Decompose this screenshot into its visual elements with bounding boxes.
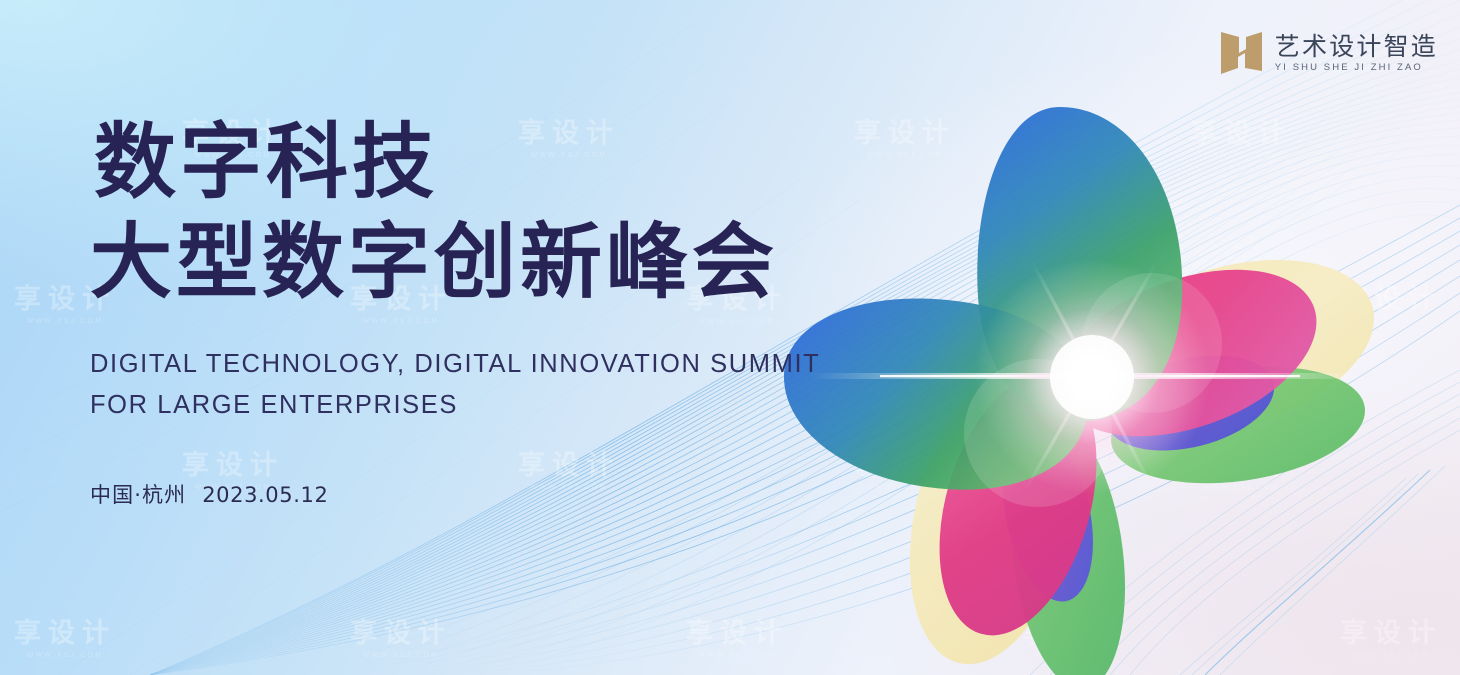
- page-title-line2: 大型数字创新峰会: [90, 222, 890, 304]
- logo-text-block: 艺术设计智造 YI SHU SHE JI ZHI ZAO: [1275, 33, 1438, 73]
- logo-name-cn: 艺术设计智造: [1275, 33, 1438, 60]
- subtitle-line1: DIGITAL TECHNOLOGY, DIGITAL INNOVATION S…: [90, 344, 890, 385]
- headline-block: 数字科技 大型数字创新峰会 DIGITAL TECHNOLOGY, DIGITA…: [90, 122, 890, 509]
- logo-name-pinyin: YI SHU SHE JI ZHI ZAO: [1275, 63, 1438, 73]
- event-location: 中国·杭州: [90, 483, 186, 507]
- n-monogram-icon: [1219, 27, 1264, 79]
- page-title-line1: 数字科技: [94, 122, 890, 204]
- watermark-text: 享设计: [350, 618, 452, 648]
- poster-canvas: 享设计WWW.XSJ.COM 享设计WWW.XSJ.COM 享设计WWW.XSJ…: [0, 0, 1460, 675]
- watermark-text: 享设计: [14, 618, 116, 648]
- event-meta: 中国·杭州2023.05.12: [90, 479, 890, 509]
- subtitle-line2: FOR LARGE ENTERPRISES: [90, 385, 890, 426]
- event-date: 2023.05.12: [202, 483, 328, 507]
- subtitle-block: DIGITAL TECHNOLOGY, DIGITAL INNOVATION S…: [90, 344, 890, 427]
- watermark-subtext: WWW.XSJ.COM: [14, 652, 116, 659]
- watermark-subtext: WWW.XSJ.COM: [350, 652, 452, 659]
- brand-logo[interactable]: 艺术设计智造 YI SHU SHE JI ZHI ZAO: [1219, 27, 1438, 79]
